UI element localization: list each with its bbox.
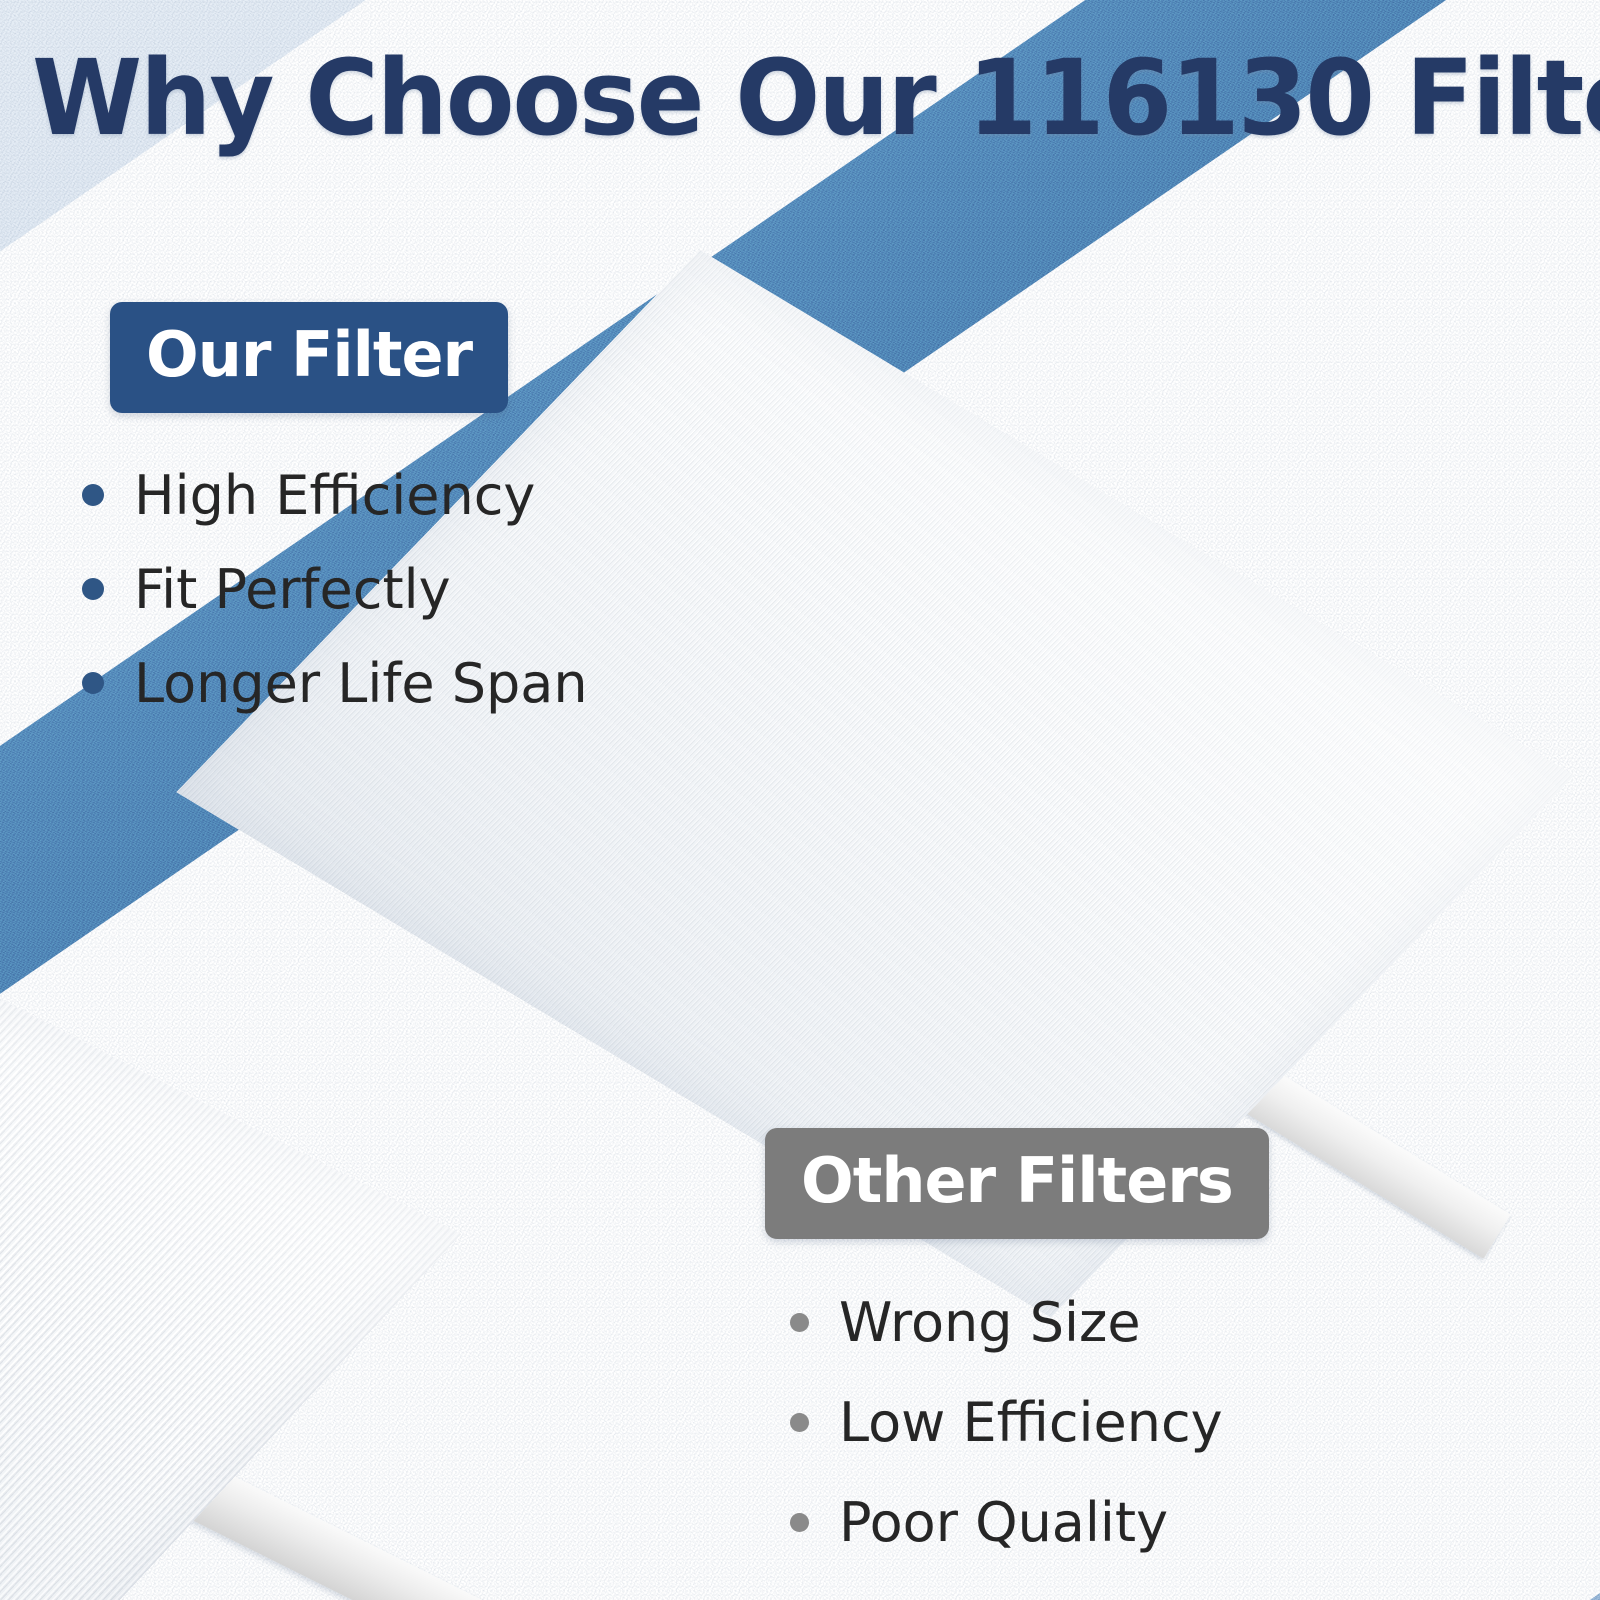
bullet-dot-icon bbox=[82, 672, 104, 694]
list-item: High Efficiency bbox=[82, 448, 588, 542]
bullet-dot-icon bbox=[82, 578, 104, 600]
list-item-label: Longer Life Span bbox=[134, 652, 588, 715]
other-filters-drawback-list: Wrong Size Low Efficiency Poor Quality bbox=[790, 1272, 1223, 1572]
our-filter-badge: Our Filter bbox=[110, 302, 508, 413]
list-item-label: High Efficiency bbox=[134, 464, 535, 527]
page-title: Why Choose Our 116130 Filter? bbox=[32, 44, 1568, 153]
list-item: Wrong Size bbox=[790, 1272, 1223, 1372]
bullet-dot-icon bbox=[790, 1313, 809, 1332]
infographic-canvas: Why Choose Our 116130 Filter? Our Filter… bbox=[0, 0, 1600, 1600]
other-filters-badge: Other Filters bbox=[765, 1128, 1269, 1239]
list-item: Low Efficiency bbox=[790, 1372, 1223, 1472]
list-item-label: Poor Quality bbox=[839, 1491, 1168, 1554]
list-item-label: Low Efficiency bbox=[839, 1391, 1223, 1454]
list-item: Fit Perfectly bbox=[82, 542, 588, 636]
our-filter-benefit-list: High Efficiency Fit Perfectly Longer Lif… bbox=[82, 448, 588, 730]
list-item: Longer Life Span bbox=[82, 636, 588, 730]
bullet-dot-icon bbox=[82, 484, 104, 506]
our-filter-product-image bbox=[700, 250, 1600, 1430]
list-item-label: Fit Perfectly bbox=[134, 558, 451, 621]
bullet-dot-icon bbox=[790, 1413, 809, 1432]
list-item-label: Wrong Size bbox=[839, 1291, 1141, 1354]
bullet-dot-icon bbox=[790, 1513, 809, 1532]
list-item: Poor Quality bbox=[790, 1472, 1223, 1572]
